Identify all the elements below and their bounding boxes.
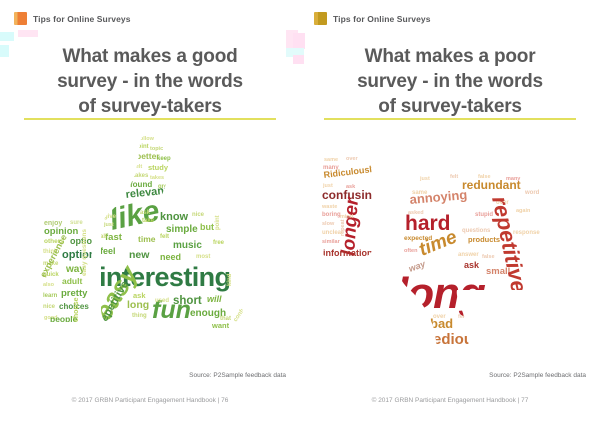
svg-text:informative: informative <box>144 354 193 364</box>
svg-text:free: free <box>213 240 225 246</box>
source-note: Source: P2Sample feedback data <box>300 372 586 379</box>
svg-text:take: take <box>160 346 171 352</box>
svg-text:clear: clear <box>130 340 152 351</box>
page-poor-survey: Tips for Online Surveys What makes a poo… <box>300 0 600 424</box>
svg-text:will: will <box>207 294 222 304</box>
title-line-2: survey - in the words <box>18 69 282 94</box>
svg-text:but: but <box>200 222 214 232</box>
svg-text:bad: bad <box>430 316 453 331</box>
svg-text:that: that <box>220 316 231 322</box>
svg-text:point: point <box>215 215 221 230</box>
svg-text:over: over <box>346 156 358 162</box>
svg-text:same: same <box>324 157 338 163</box>
edge-artifact <box>18 30 38 37</box>
svg-text:kind: kind <box>227 273 233 286</box>
header-label: Tips for Online Surveys <box>333 14 431 24</box>
svg-text:take: take <box>142 218 155 224</box>
header-label: Tips for Online Surveys <box>33 14 131 24</box>
svg-text:also: also <box>43 282 55 288</box>
svg-text:point: point <box>134 144 149 150</box>
svg-text:most: most <box>196 254 210 260</box>
title-line-1: What makes a good <box>18 44 282 69</box>
title-line-1: What makes a poor <box>318 44 582 69</box>
svg-text:different: different <box>165 330 208 342</box>
svg-text:easy questions: easy questions <box>81 229 88 276</box>
svg-text:good: good <box>218 346 233 352</box>
hand-words: follow point topic better keep felt stud… <box>88 126 260 374</box>
svg-text:just: just <box>489 318 500 324</box>
svg-text:felt: felt <box>134 164 142 170</box>
page-header-right: Tips for Online Surveys <box>314 12 431 25</box>
svg-text:mind: mind <box>340 214 353 220</box>
title-line-3: of survey-takers <box>318 94 582 119</box>
svg-text:feel: feel <box>100 246 116 256</box>
svg-text:short: short <box>173 295 202 307</box>
svg-text:answer: answer <box>458 252 479 258</box>
page-title: What makes a poor survey - in the words … <box>318 44 582 119</box>
svg-text:felt: felt <box>458 314 466 320</box>
svg-text:people: people <box>205 331 231 340</box>
svg-text:opportunity: opportunity <box>48 337 93 346</box>
svg-text:learn: learn <box>43 293 58 299</box>
svg-text:all: all <box>100 234 107 240</box>
svg-text:redundant: redundant <box>462 178 521 192</box>
svg-text:ask: ask <box>140 210 151 216</box>
svg-text:repeat: repeat <box>340 219 346 236</box>
svg-text:about: about <box>150 330 166 336</box>
svg-text:nice: nice <box>192 212 205 218</box>
svg-text:music: music <box>173 240 202 251</box>
thumbs-up-word-cloud: enjoy sure opinion others option think o… <box>0 126 300 374</box>
svg-text:give: give <box>104 214 117 220</box>
svg-text:need: need <box>160 252 181 262</box>
header-badge-icon <box>14 12 27 25</box>
svg-text:similar: similar <box>322 239 341 245</box>
edge-artifact <box>0 45 9 57</box>
svg-text:mind: mind <box>500 352 515 358</box>
title-line-2: survey - in the words <box>318 69 582 94</box>
svg-text:fast: fast <box>105 232 123 243</box>
svg-text:hope: hope <box>104 328 127 339</box>
svg-text:new: new <box>129 249 150 261</box>
title-divider <box>24 118 276 120</box>
svg-text:fine: fine <box>228 334 239 340</box>
title-divider <box>324 118 576 120</box>
svg-text:selection: selection <box>198 354 235 364</box>
svg-text:follow: follow <box>138 136 155 142</box>
svg-text:again: again <box>516 208 531 214</box>
svg-text:information: information <box>323 248 373 258</box>
svg-text:information: information <box>46 326 96 336</box>
svg-text:long: long <box>396 269 486 318</box>
cuff-words: enjoy sure opinion others option think o… <box>38 214 102 354</box>
svg-text:keep: keep <box>157 156 171 162</box>
svg-text:word: word <box>524 190 540 196</box>
svg-text:again: again <box>322 261 337 267</box>
svg-text:choose: choose <box>73 297 80 322</box>
svg-text:poor: poor <box>410 336 423 342</box>
svg-text:felt: felt <box>450 174 458 180</box>
svg-text:tedious: tedious <box>428 331 481 348</box>
svg-text:time: time <box>138 234 156 244</box>
title-line-3: of survey-takers <box>18 94 282 119</box>
thumbs-down-word-cloud: same over many Ridiculously just ask con… <box>300 126 600 374</box>
page-good-survey: Tips for Online Surveys What makes a goo… <box>0 0 300 424</box>
svg-text:just: just <box>103 222 114 228</box>
two-page-spread: Tips for Online Surveys What makes a goo… <box>0 0 600 424</box>
edge-artifact <box>0 32 14 41</box>
svg-text:many: many <box>512 312 527 318</box>
svg-text:response: response <box>482 344 509 350</box>
svg-text:pretty: pretty <box>61 288 88 299</box>
svg-text:questions: questions <box>462 228 491 234</box>
source-note: Source: P2Sample feedback data <box>0 372 286 379</box>
svg-text:thing: thing <box>132 313 147 319</box>
svg-text:minimal: minimal <box>476 334 497 340</box>
svg-text:find: find <box>490 362 501 368</box>
page-header-left: Tips for Online Surveys <box>14 12 131 25</box>
hand-words: just felt false many redundant same word… <box>392 126 557 374</box>
svg-text:long: long <box>127 299 149 311</box>
svg-text:takes: takes <box>133 173 149 179</box>
svg-text:know: know <box>160 211 189 223</box>
svg-text:want: want <box>211 321 230 330</box>
svg-text:short: short <box>44 348 59 354</box>
svg-text:slow: slow <box>416 352 429 358</box>
svg-text:nice: nice <box>43 304 56 310</box>
page-footer: © 2017 GRBN Participant Engagement Handb… <box>0 397 300 404</box>
svg-text:waste: waste <box>321 204 337 210</box>
svg-text:simple: simple <box>166 224 198 235</box>
svg-text:slow: slow <box>322 221 335 227</box>
page-footer: © 2017 GRBN Participant Engagement Handb… <box>300 397 600 404</box>
cuff-words: same over many Ridiculously just ask con… <box>320 152 379 267</box>
svg-text:used: used <box>155 298 169 304</box>
svg-text:just: just <box>419 176 430 182</box>
svg-text:saying: saying <box>110 354 129 360</box>
page-title: What makes a good survey - in the words … <box>18 44 282 119</box>
svg-text:often: often <box>404 248 418 254</box>
svg-text:boring: boring <box>322 212 341 218</box>
svg-text:false: false <box>482 254 495 260</box>
svg-text:study: study <box>148 163 169 172</box>
svg-text:adult: adult <box>62 276 82 286</box>
svg-text:felt: felt <box>160 234 169 240</box>
header-badge-icon <box>314 12 327 25</box>
svg-text:also: also <box>410 320 422 326</box>
